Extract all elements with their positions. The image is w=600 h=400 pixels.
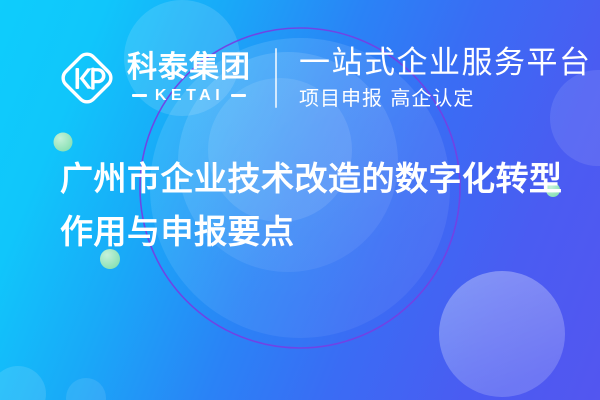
green-dot-upper-left [54,133,73,152]
page-title-line-1: 广州市企业技术改造的数字化转型 [60,152,570,205]
dash-left-icon [132,94,147,97]
tagline-sub: 项目申报 高企认定 [299,87,592,109]
banner-header: 科泰集团 KETAI 一站式企业服务平台 项目申报 高企认定 [58,40,592,116]
light-circle-bottom-left [0,366,46,400]
brand-name-en-row: KETAI [127,88,251,104]
promo-banner: 科泰集团 KETAI 一站式企业服务平台 项目申报 高企认定 广州市企业技术改造… [0,0,600,400]
page-title: 广州市企业技术改造的数字化转型 作用与申报要点 [60,152,570,259]
light-circle-bottom-left-2 [66,378,106,400]
light-circle-right-bottom [439,271,565,397]
brand-name-cn: 科泰集团 [127,53,251,83]
page-title-line-2: 作用与申报要点 [60,205,570,258]
header-divider [275,48,277,108]
brand-name-en: KETAI [154,88,224,104]
ketai-kp-monogram-icon [58,49,116,107]
tagline-block: 一站式企业服务平台 项目申报 高企认定 [299,47,592,109]
brand-lockup: 科泰集团 KETAI [127,53,251,104]
dash-right-icon [231,94,246,97]
tagline-main: 一站式企业服务平台 [299,47,592,80]
